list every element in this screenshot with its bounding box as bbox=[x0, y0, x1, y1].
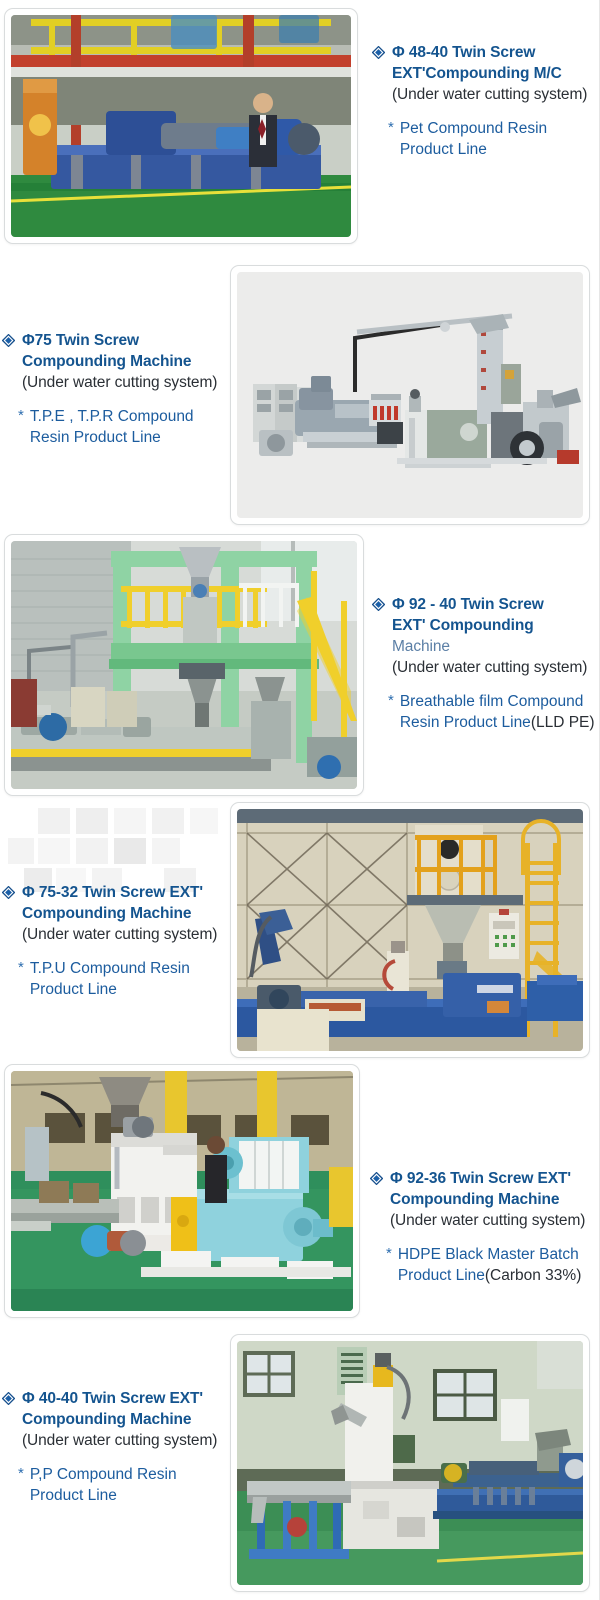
heading-line-2: EXT'Compounding M/C bbox=[392, 63, 587, 84]
sub-line-2-note: (LLD PE) bbox=[531, 714, 595, 731]
photo-frame-5[interactable] bbox=[4, 1064, 360, 1318]
caption-sub-lines-2: T.P.E , T.P.R Compound Resin Product Lin… bbox=[30, 406, 194, 448]
sub-line-1: P,P Compound Resin bbox=[30, 1464, 177, 1485]
caption-4: Φ 75-32 Twin Screw EXT' Compounding Mach… bbox=[2, 882, 226, 1000]
diamond-bullet-icon bbox=[370, 1172, 383, 1190]
caption-sub-6: * P,P Compound Resin Product Line bbox=[2, 1464, 226, 1506]
caption-sub-2: * T.P.E , T.P.R Compound Resin Product L… bbox=[2, 406, 224, 448]
star-bullet-icon: * bbox=[388, 118, 394, 138]
caption-heading-2: Φ75 Twin Screw Compounding Machine (Unde… bbox=[2, 330, 224, 393]
sub-line-2: Product Line(Carbon 33%) bbox=[398, 1265, 582, 1286]
caption-sub-5: * HDPE Black Master Batch Product Line(C… bbox=[370, 1244, 598, 1286]
caption-sub-4: * T.P.U Compound Resin Product Line bbox=[2, 958, 226, 1000]
photo-75-twin-screw-line bbox=[237, 272, 583, 518]
product-block-6: Φ 40-40 Twin Screw EXT' Compounding Mach… bbox=[0, 1330, 600, 1600]
diamond-bullet-icon bbox=[2, 1392, 15, 1410]
photo-illustration bbox=[237, 1341, 583, 1585]
caption-1: Φ 48-40 Twin Screw EXT'Compounding M/C (… bbox=[372, 42, 596, 160]
photo-frame-2[interactable] bbox=[230, 265, 590, 525]
diamond-bullet-icon bbox=[2, 334, 15, 352]
sub-line-1: HDPE Black Master Batch bbox=[398, 1244, 582, 1265]
heading-line-1: Φ 75-32 Twin Screw EXT' bbox=[22, 882, 217, 903]
heading-line-3: (Under water cutting system) bbox=[22, 924, 217, 945]
caption-sub-lines-6: P,P Compound Resin Product Line bbox=[30, 1464, 177, 1506]
product-block-4: Φ 75-32 Twin Screw EXT' Compounding Mach… bbox=[0, 800, 600, 1062]
heading-line-3: (Under water cutting system) bbox=[22, 1430, 217, 1451]
sub-line-2-note: (Carbon 33%) bbox=[485, 1267, 582, 1284]
photo-92-36-twin-screw-line bbox=[11, 1071, 353, 1311]
photo-48-40-twin-screw-line bbox=[11, 15, 351, 237]
caption-sub-lines-3: Breathable film Compound Resin Product L… bbox=[400, 691, 595, 733]
product-block-2: Φ75 Twin Screw Compounding Machine (Unde… bbox=[0, 262, 600, 530]
photo-40-40-twin-screw-line bbox=[237, 1341, 583, 1585]
sub-line-1: T.P.E , T.P.R Compound bbox=[30, 406, 194, 427]
sub-line-2: Product Line bbox=[30, 1485, 177, 1506]
caption-heading-lines-5: Φ 92-36 Twin Screw EXT' Compounding Mach… bbox=[390, 1168, 585, 1231]
heading-line-2: EXT' Compounding bbox=[392, 615, 587, 636]
diamond-bullet-icon bbox=[2, 886, 15, 904]
sub-line-2: Product Line bbox=[400, 139, 547, 160]
heading-line-1: Φ 48-40 Twin Screw bbox=[392, 42, 587, 63]
caption-sub-lines-5: HDPE Black Master Batch Product Line(Car… bbox=[398, 1244, 582, 1286]
caption-heading-lines-2: Φ75 Twin Screw Compounding Machine (Unde… bbox=[22, 330, 217, 393]
heading-line-1: Φ75 Twin Screw bbox=[22, 330, 217, 351]
product-block-1: Φ 48-40 Twin Screw EXT'Compounding M/C (… bbox=[0, 0, 600, 262]
photo-frame-4[interactable] bbox=[230, 802, 590, 1058]
caption-heading-4: Φ 75-32 Twin Screw EXT' Compounding Mach… bbox=[2, 882, 226, 945]
photo-frame-3[interactable] bbox=[4, 534, 364, 796]
photo-92-40-twin-screw-line bbox=[11, 541, 357, 789]
caption-sub-3: * Breathable film Compound Resin Product… bbox=[372, 691, 598, 733]
sub-line-1: Breathable film Compound bbox=[400, 691, 595, 712]
sub-line-2: Resin Product Line bbox=[30, 427, 194, 448]
heading-line-2: Compounding Machine bbox=[22, 1409, 217, 1430]
caption-heading-1: Φ 48-40 Twin Screw EXT'Compounding M/C (… bbox=[372, 42, 596, 105]
heading-line-2: Compounding Machine bbox=[22, 351, 217, 372]
star-bullet-icon: * bbox=[18, 1464, 24, 1484]
heading-line-3: (Under water cutting system) bbox=[22, 372, 217, 393]
photo-frame-6[interactable] bbox=[230, 1334, 590, 1592]
sub-line-1: T.P.U Compound Resin bbox=[30, 958, 190, 979]
caption-6: Φ 40-40 Twin Screw EXT' Compounding Mach… bbox=[2, 1388, 226, 1506]
diamond-bullet-icon bbox=[372, 46, 385, 64]
product-block-3: Φ 92 - 40 Twin Screw EXT' Compounding Ma… bbox=[0, 530, 600, 800]
sub-line-2-main: Resin Product Line bbox=[400, 714, 531, 731]
sub-line-1: Pet Compound Resin bbox=[400, 118, 547, 139]
caption-3: Φ 92 - 40 Twin Screw EXT' Compounding Ma… bbox=[372, 594, 598, 733]
heading-line-3: Machine bbox=[392, 636, 587, 657]
star-bullet-icon: * bbox=[18, 958, 24, 978]
caption-heading-lines-4: Φ 75-32 Twin Screw EXT' Compounding Mach… bbox=[22, 882, 217, 945]
photo-illustration bbox=[11, 541, 357, 789]
caption-2: Φ75 Twin Screw Compounding Machine (Unde… bbox=[2, 330, 224, 448]
photo-illustration bbox=[11, 1071, 353, 1311]
caption-heading-5: Φ 92-36 Twin Screw EXT' Compounding Mach… bbox=[370, 1168, 598, 1231]
photo-illustration bbox=[237, 272, 583, 518]
photo-illustration bbox=[237, 809, 583, 1051]
caption-sub-lines-4: T.P.U Compound Resin Product Line bbox=[30, 958, 190, 1000]
caption-heading-6: Φ 40-40 Twin Screw EXT' Compounding Mach… bbox=[2, 1388, 226, 1451]
product-block-5: Φ 92-36 Twin Screw EXT' Compounding Mach… bbox=[0, 1062, 600, 1330]
sub-line-2: Resin Product Line(LLD PE) bbox=[400, 712, 595, 733]
star-bullet-icon: * bbox=[18, 406, 24, 426]
heading-line-1: Φ 92 - 40 Twin Screw bbox=[392, 594, 587, 615]
photo-illustration bbox=[11, 15, 351, 237]
heading-line-1: Φ 40-40 Twin Screw EXT' bbox=[22, 1388, 217, 1409]
caption-5: Φ 92-36 Twin Screw EXT' Compounding Mach… bbox=[370, 1168, 598, 1286]
heading-line-2: Compounding Machine bbox=[390, 1189, 585, 1210]
heading-line-4: (Under water cutting system) bbox=[392, 657, 587, 678]
caption-heading-lines-6: Φ 40-40 Twin Screw EXT' Compounding Mach… bbox=[22, 1388, 217, 1451]
sub-line-2-main: Product Line bbox=[398, 1267, 485, 1284]
caption-sub-1: * Pet Compound Resin Product Line bbox=[372, 118, 596, 160]
heading-line-2: Compounding Machine bbox=[22, 903, 217, 924]
product-gallery-page: Φ 48-40 Twin Screw EXT'Compounding M/C (… bbox=[0, 0, 600, 1600]
photo-frame-1[interactable] bbox=[4, 8, 358, 244]
photo-75-32-twin-screw-line bbox=[237, 809, 583, 1051]
heading-line-3: (Under water cutting system) bbox=[392, 84, 587, 105]
star-bullet-icon: * bbox=[388, 691, 394, 711]
heading-line-3: (Under water cutting system) bbox=[390, 1210, 585, 1231]
heading-line-1: Φ 92-36 Twin Screw EXT' bbox=[390, 1168, 585, 1189]
diamond-bullet-icon bbox=[372, 598, 385, 616]
caption-sub-lines-1: Pet Compound Resin Product Line bbox=[400, 118, 547, 160]
caption-heading-3: Φ 92 - 40 Twin Screw EXT' Compounding Ma… bbox=[372, 594, 598, 678]
caption-heading-lines-1: Φ 48-40 Twin Screw EXT'Compounding M/C (… bbox=[392, 42, 587, 105]
caption-heading-lines-3: Φ 92 - 40 Twin Screw EXT' Compounding Ma… bbox=[392, 594, 587, 678]
sub-line-2: Product Line bbox=[30, 979, 190, 1000]
star-bullet-icon: * bbox=[386, 1244, 392, 1264]
